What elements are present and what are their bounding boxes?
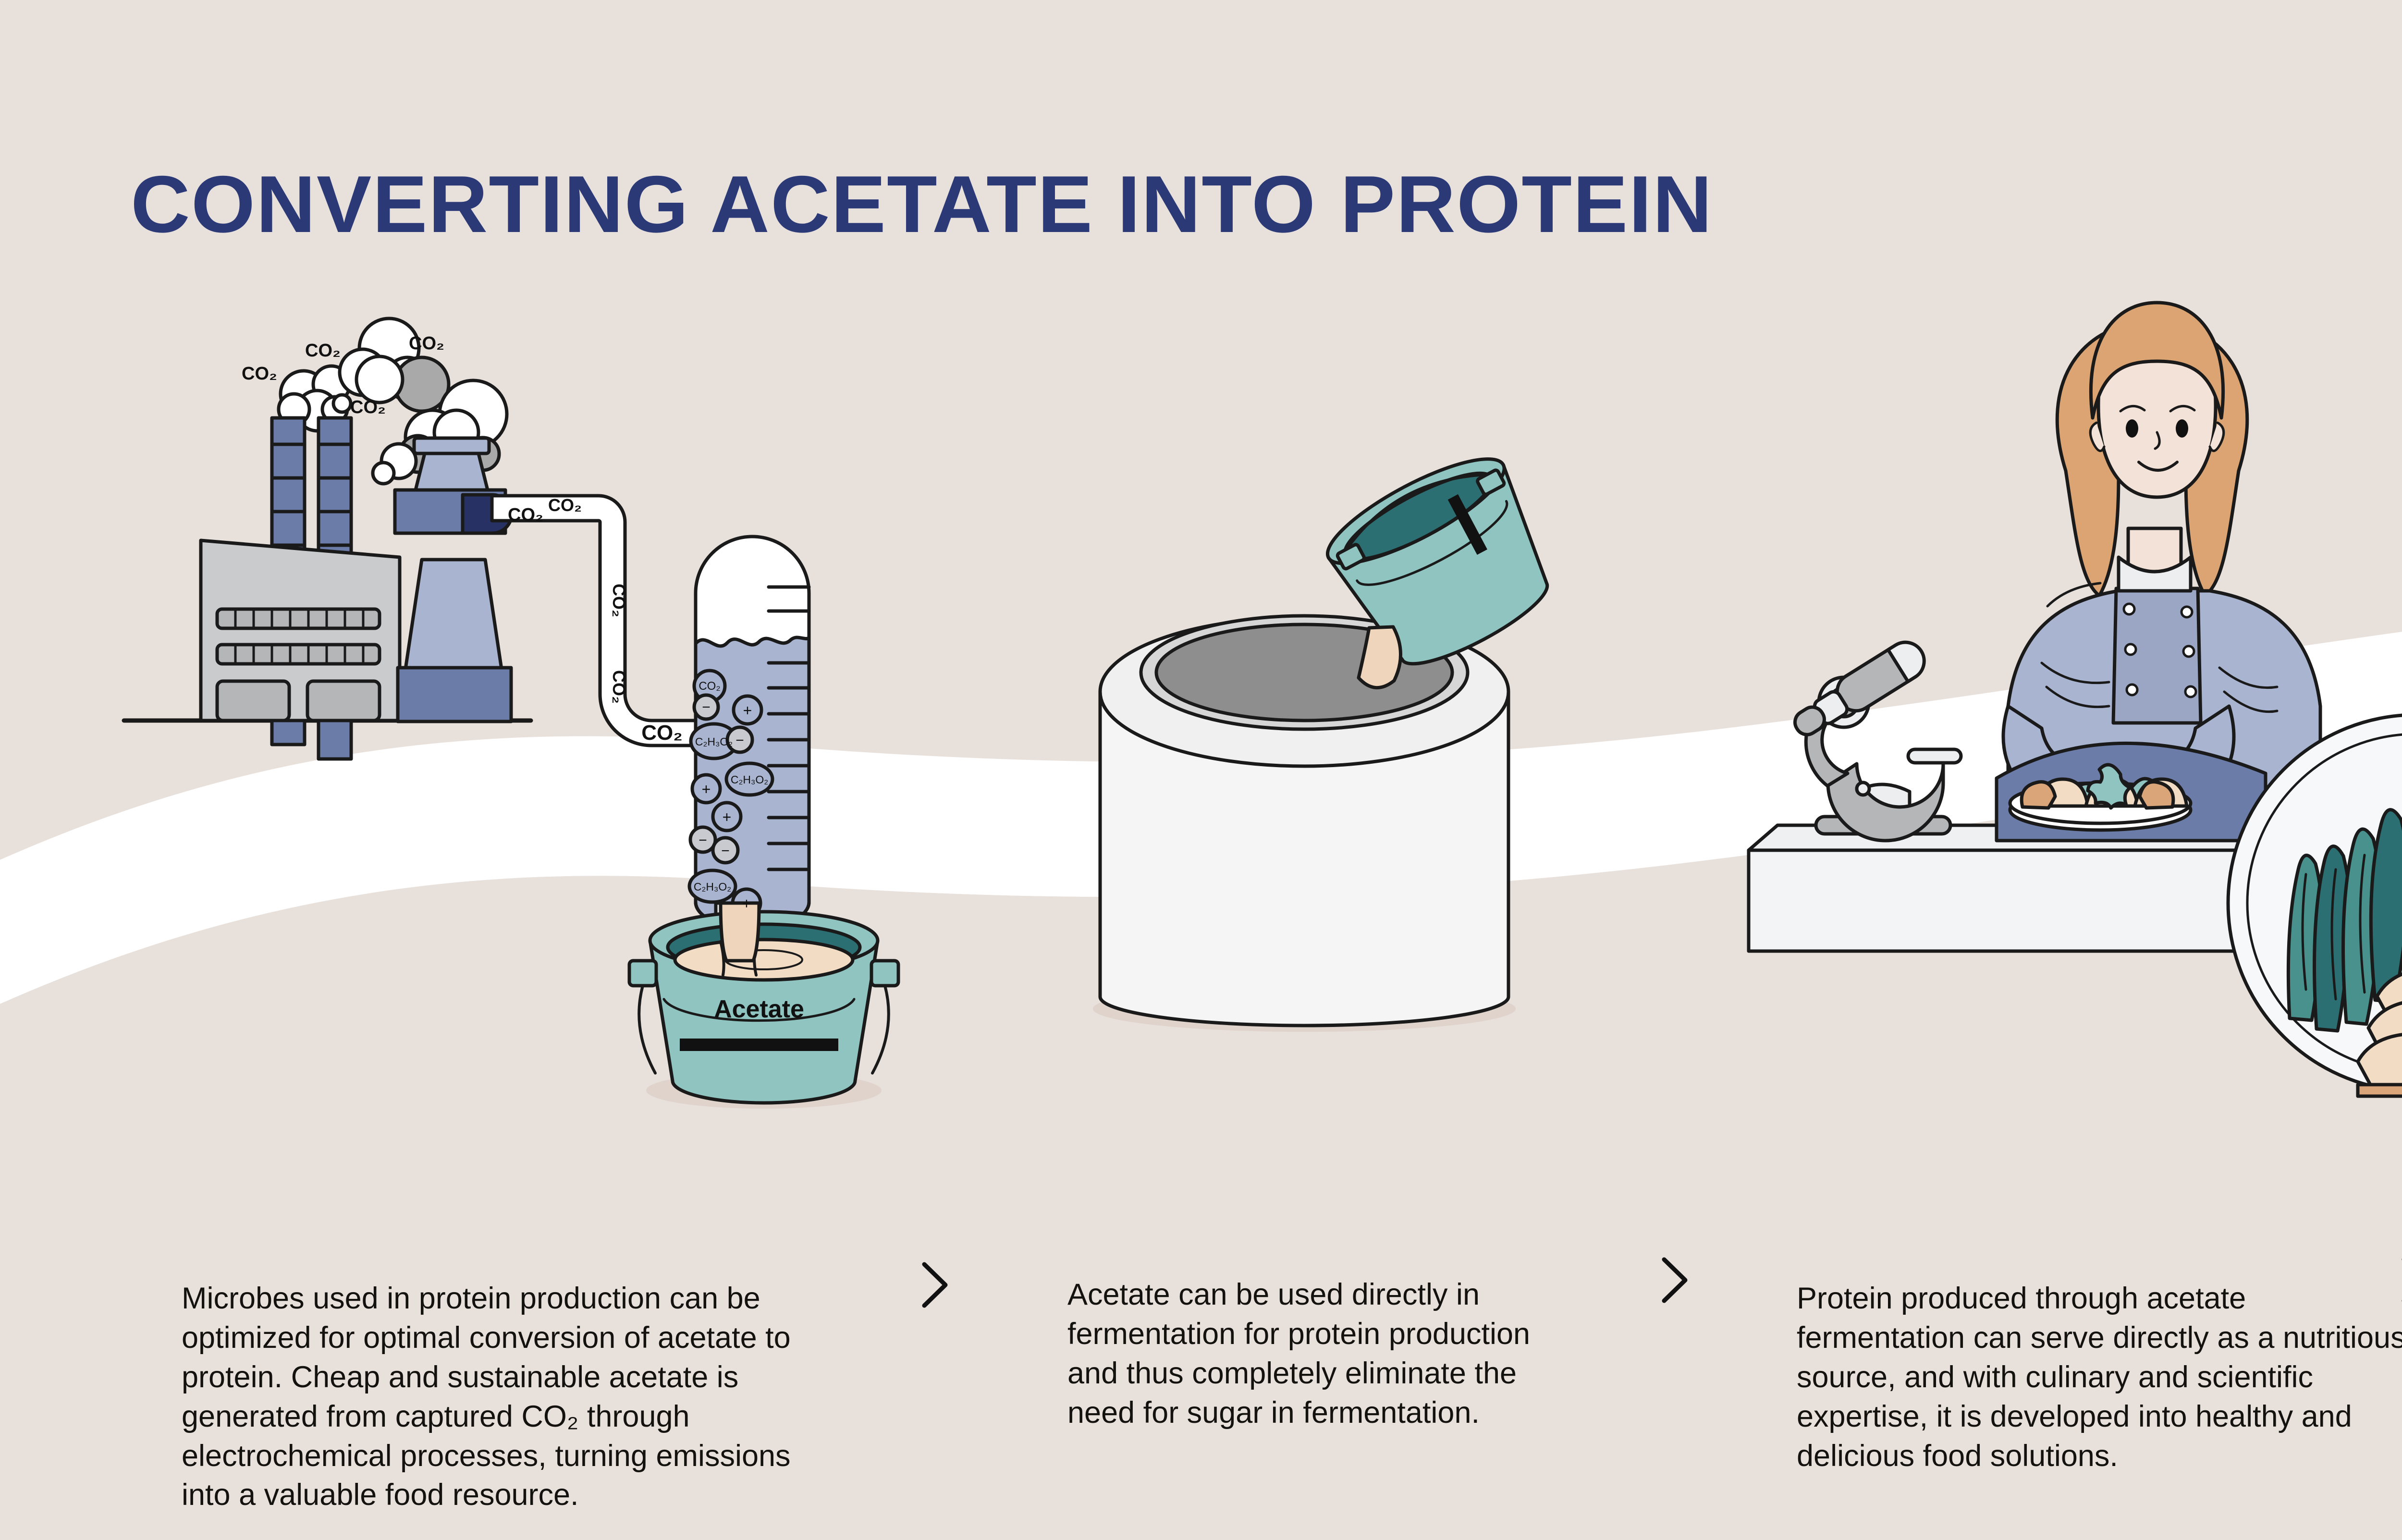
caption-electrolysis: Microbes used in protein production can …	[182, 1279, 816, 1515]
caption-row: Microbes used in protein production can …	[0, 1249, 2402, 1489]
infographic-canvas: CO₂ CO₂ CO₂ CO₂ CO₂ CO₂ CO₂ CO₂ CO₂ CO₂ …	[0, 0, 2402, 1540]
chevron-right-icon-1	[918, 1259, 951, 1311]
chevron-right-icon-2	[1657, 1254, 1691, 1307]
caption-culinary: Protein produced through acetate ferment…	[1797, 1279, 2402, 1476]
caption-fermentation: Acetate can be used directly in fermenta…	[1067, 1275, 1581, 1433]
page-title: CONVERTING ACETATE INTO PROTEIN	[131, 164, 1713, 244]
chevron-right-icon-3	[2397, 1254, 2402, 1307]
